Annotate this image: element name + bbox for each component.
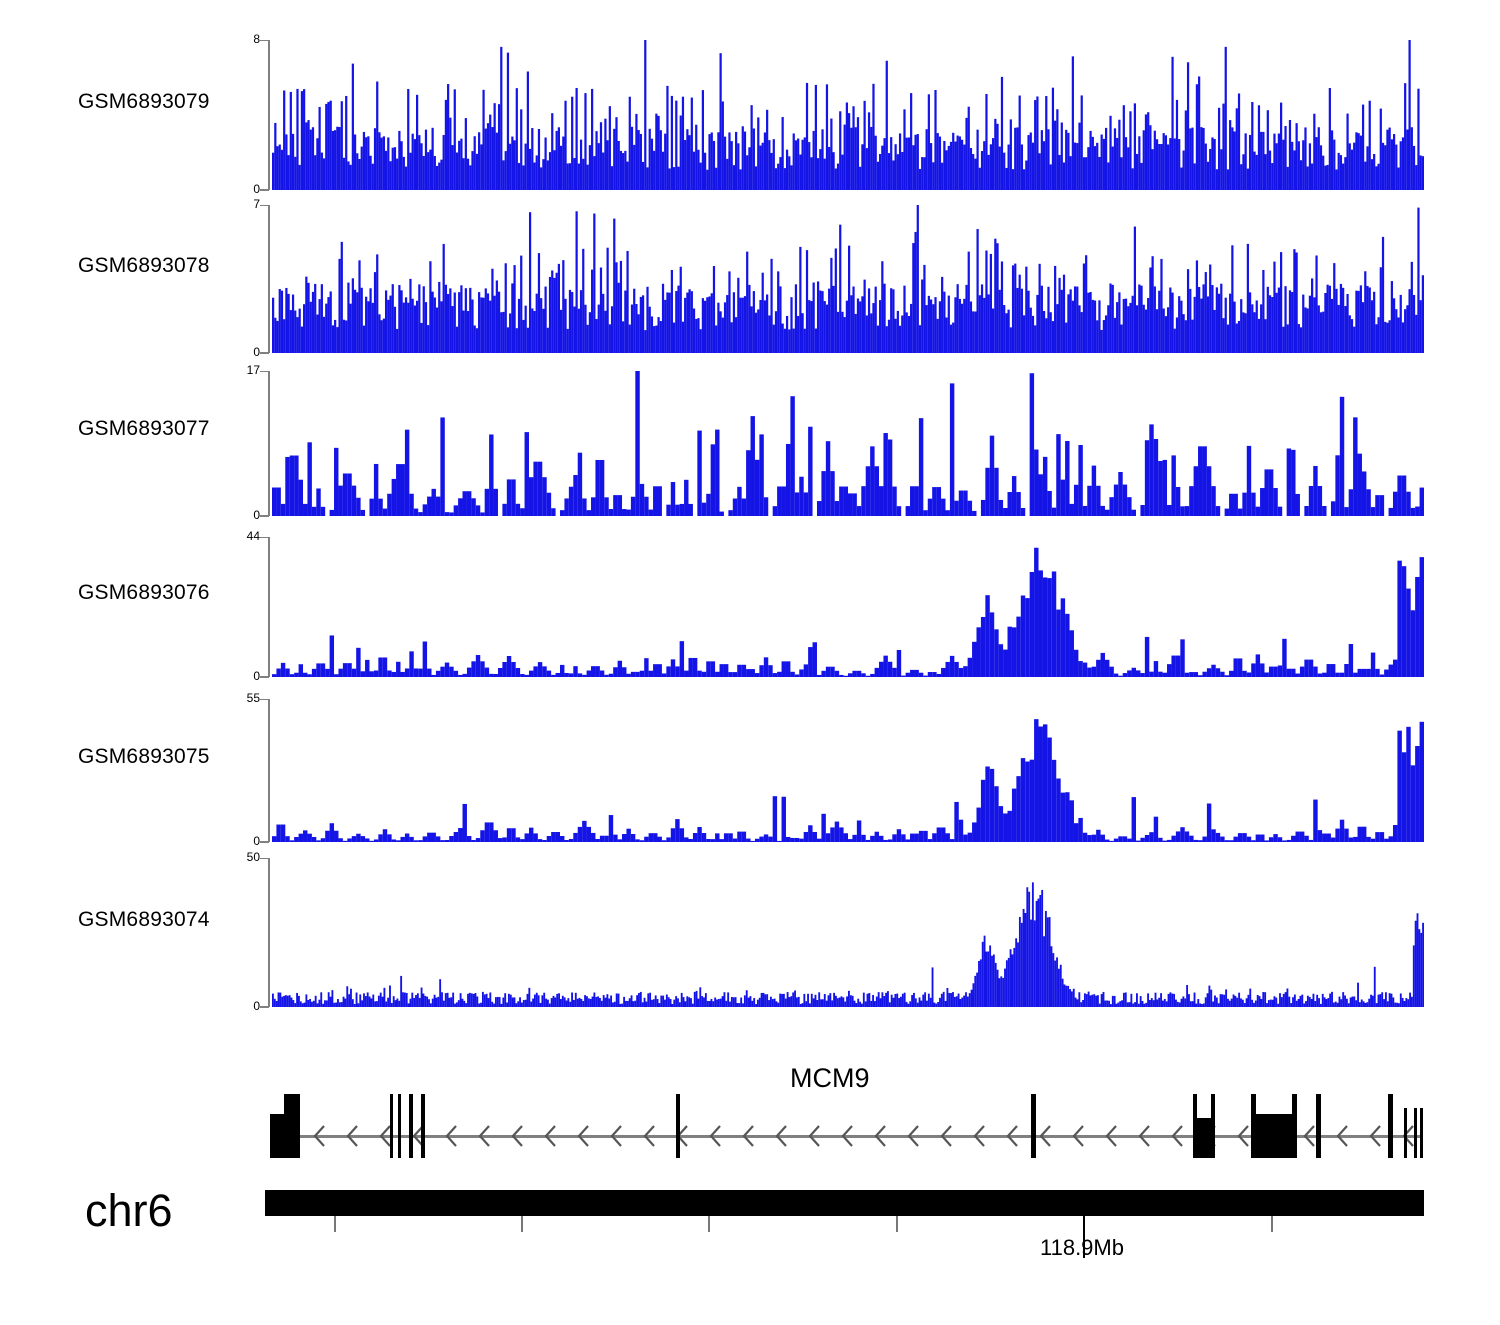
exon-block[interactable] xyxy=(1031,1094,1036,1158)
exon-block[interactable] xyxy=(270,1114,284,1158)
exon-block[interactable] xyxy=(398,1094,401,1158)
exon-block[interactable] xyxy=(676,1094,680,1158)
exon-block[interactable] xyxy=(1316,1094,1321,1158)
exon-block[interactable] xyxy=(390,1094,393,1158)
coordinate-tick xyxy=(334,1216,336,1232)
exon-block[interactable] xyxy=(1211,1094,1215,1158)
exon-block[interactable] xyxy=(1420,1108,1423,1158)
exon-block[interactable] xyxy=(284,1094,300,1158)
genome-browser-view: GSM689307980GSM689307870GSM6893077170GSM… xyxy=(0,0,1500,1320)
exon-block[interactable] xyxy=(1292,1094,1297,1158)
exon-block[interactable] xyxy=(1414,1108,1417,1158)
chromosome-label: chr6 xyxy=(85,1185,173,1237)
coordinate-tick xyxy=(708,1216,710,1232)
exon-block[interactable] xyxy=(409,1094,413,1158)
coordinate-tick xyxy=(1271,1216,1273,1232)
coordinate-tick xyxy=(896,1216,898,1232)
coordinate-tick-label: 118.9Mb xyxy=(1040,1235,1124,1261)
chromosome-bar[interactable] xyxy=(265,1190,1424,1216)
exon-block[interactable] xyxy=(1254,1114,1294,1158)
exon-block[interactable] xyxy=(421,1094,425,1158)
coordinate-tick xyxy=(521,1216,523,1232)
exon-block[interactable] xyxy=(1388,1094,1393,1158)
exon-block[interactable] xyxy=(1404,1108,1407,1158)
